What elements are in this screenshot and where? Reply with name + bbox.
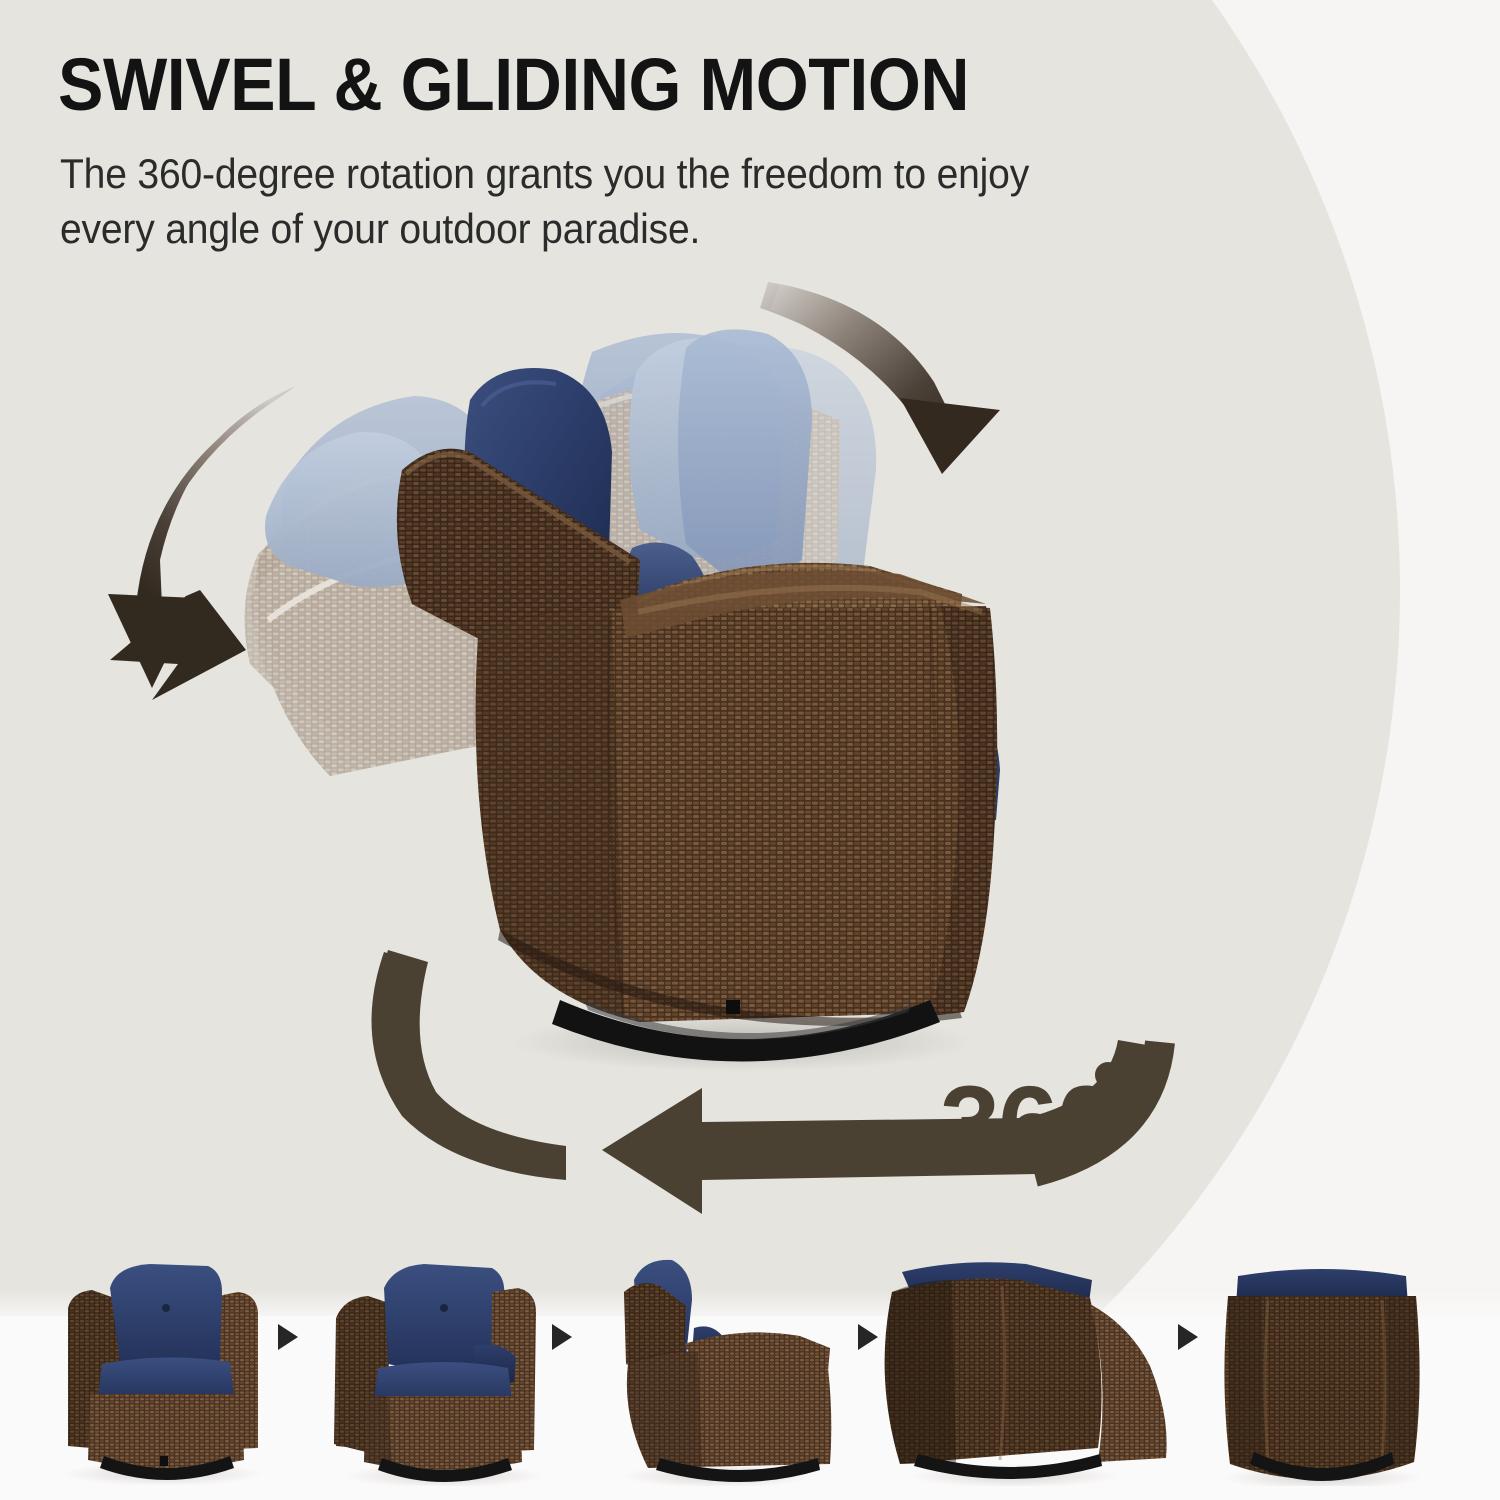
sequence-arrow-2 [552,1324,578,1354]
sequence-chair-3 [623,1260,831,1486]
sequence-chair-5 [1222,1269,1422,1486]
play-triangle-icon [858,1324,878,1350]
play-triangle-icon [552,1324,572,1350]
play-triangle-icon [278,1324,298,1350]
sequence-illustration [0,1196,1500,1486]
degree-symbol-icon [1095,1062,1121,1088]
sequence-arrow-3 [858,1324,884,1354]
degree-value-label: 360 [940,1070,1114,1178]
infographic-stage: SWIVEL & GLIDING MOTION The 360-degree r… [0,0,1500,1500]
sequence-chair-1 [63,1264,263,1486]
sequence-arrow-4 [1178,1324,1204,1354]
rotation-step-sequence [0,1196,1500,1486]
play-triangle-icon [1178,1324,1198,1350]
sequence-arrow-1 [278,1324,304,1354]
sequence-chair-2 [334,1264,544,1486]
sequence-chair-4 [885,1262,1167,1486]
ghost-cushion-right [678,329,812,577]
